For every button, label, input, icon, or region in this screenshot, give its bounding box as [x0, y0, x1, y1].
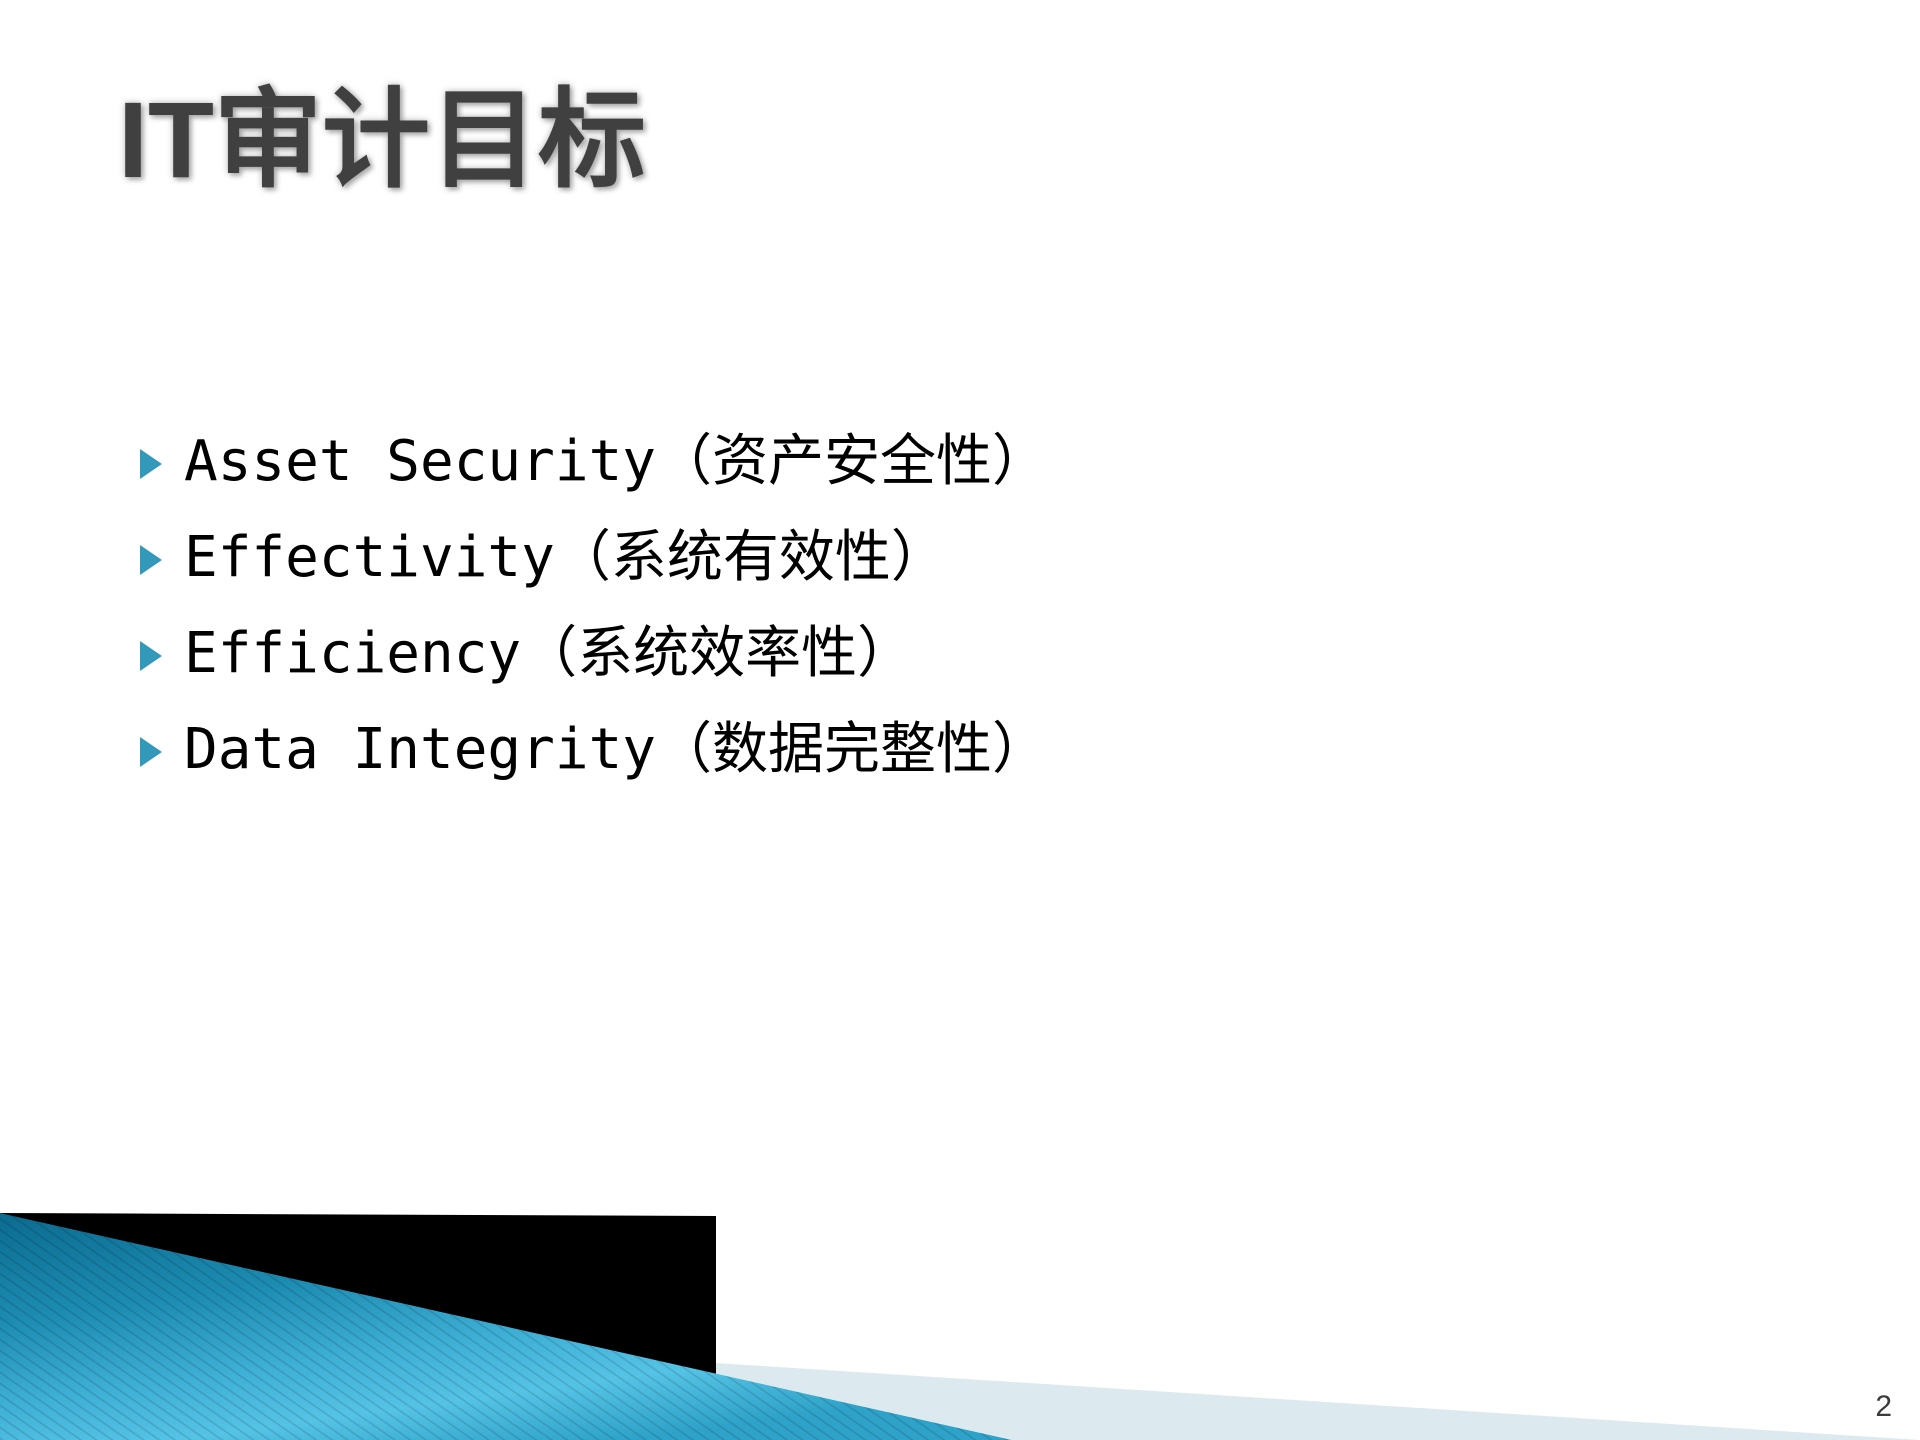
page-title: IT审计目标	[118, 78, 646, 202]
bullet-list: Asset Security（资产安全性） Effectivity（系统有效性）…	[138, 414, 1638, 798]
slide-canvas: IT审计目标 Asset Security（资产安全性） Effectivity…	[0, 0, 1920, 1440]
triangle-right-icon	[138, 443, 184, 481]
teal-gradient-shape	[0, 1213, 1012, 1440]
black-polygon-shape	[0, 1213, 716, 1440]
pale-blue-sliver-shape	[716, 1363, 1920, 1440]
list-item[interactable]: Data Integrity（数据完整性）	[138, 702, 1638, 798]
triangle-right-icon	[138, 731, 184, 769]
list-item[interactable]: Asset Security（资产安全性）	[138, 414, 1638, 510]
page-number: 2	[1875, 1390, 1892, 1424]
list-item-label: Asset Security（资产安全性）	[184, 434, 1048, 490]
list-item[interactable]: Efficiency（系统效率性）	[138, 606, 1638, 702]
list-item-label: Effectivity（系统有效性）	[184, 530, 947, 586]
list-item[interactable]: Effectivity（系统有效性）	[138, 510, 1638, 606]
teal-stripe-overlay	[0, 1213, 1012, 1440]
triangle-right-icon	[138, 539, 184, 577]
list-item-label: Efficiency（系统效率性）	[184, 626, 913, 682]
list-item-label: Data Integrity（数据完整性）	[184, 722, 1048, 778]
triangle-right-icon	[138, 635, 184, 673]
